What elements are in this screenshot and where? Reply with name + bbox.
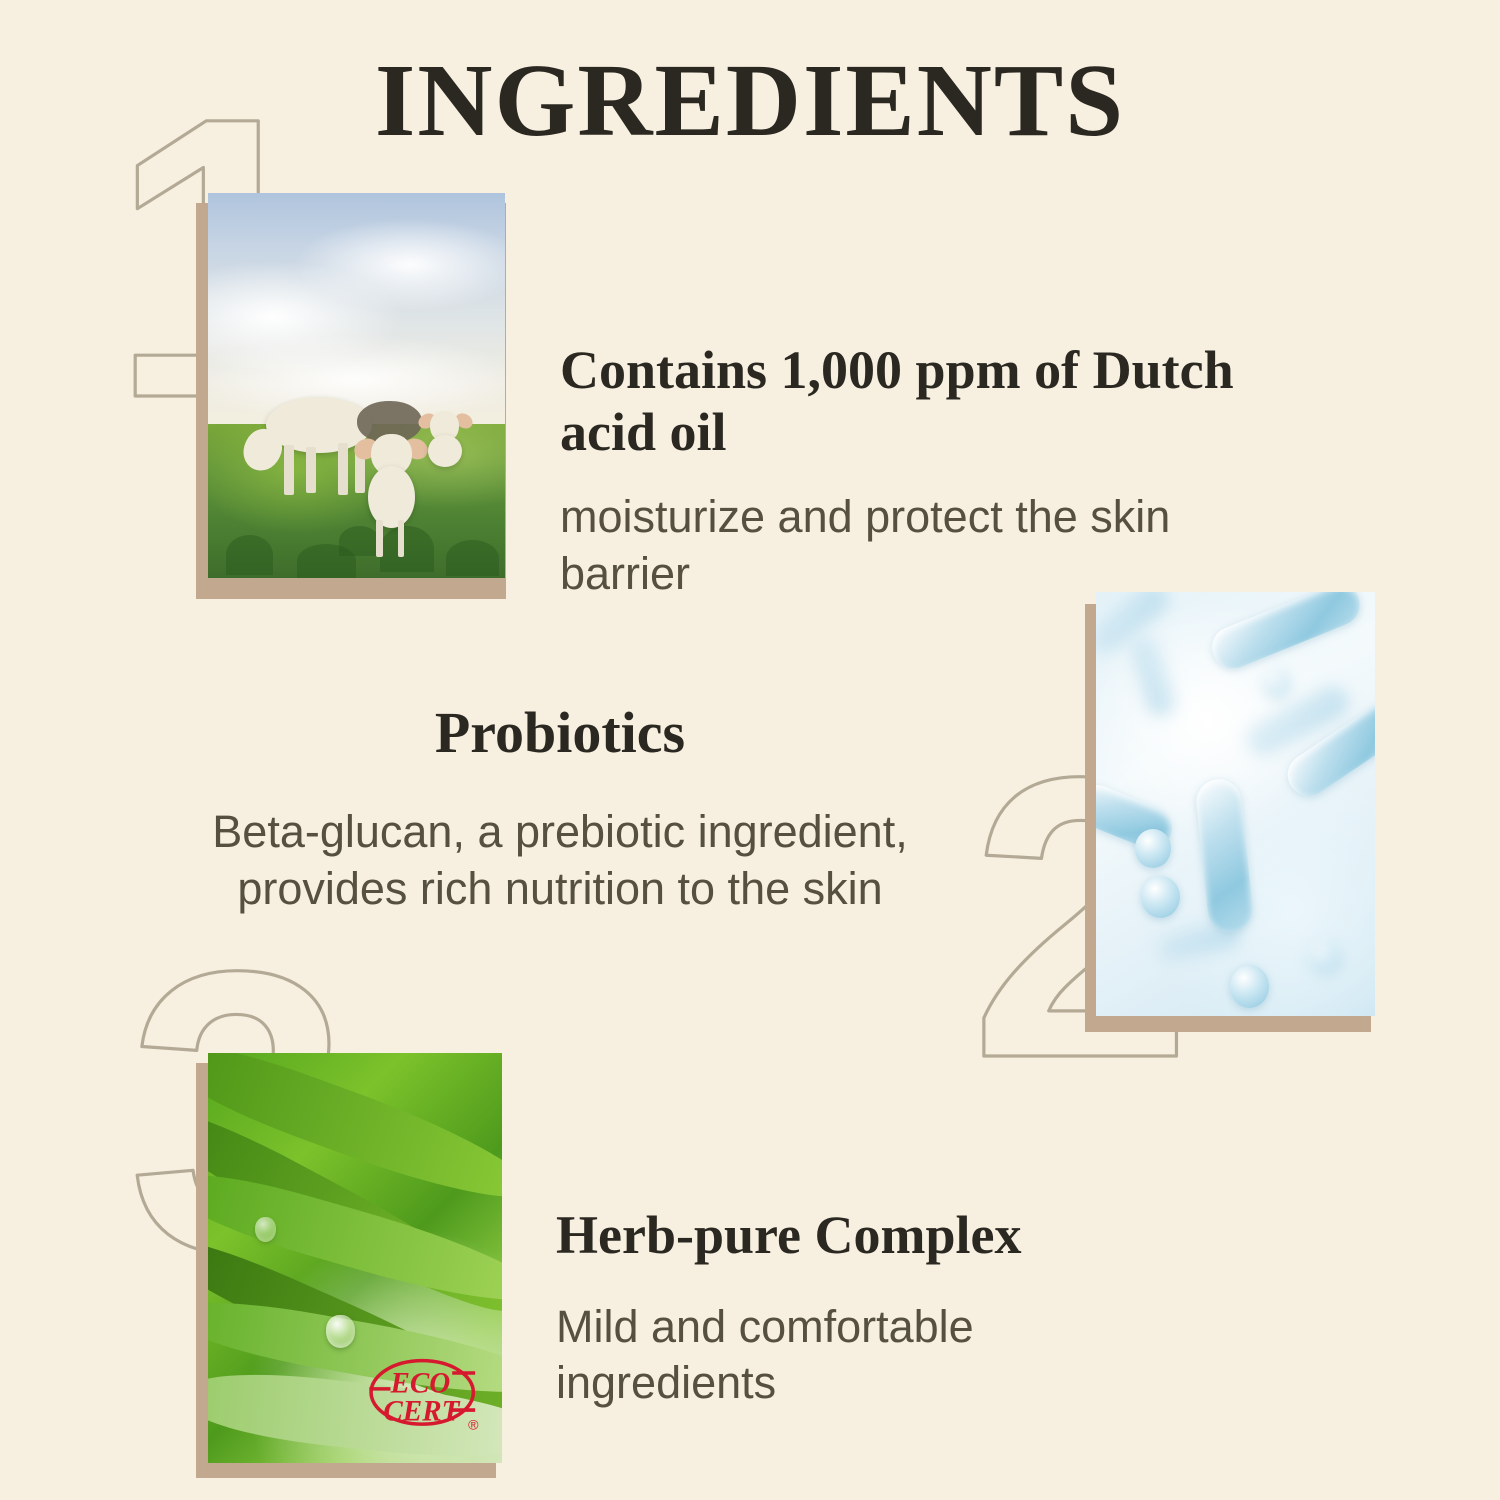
ingredient-2-body: Beta-glucan, a prebiotic ingredient, pro…	[130, 804, 990, 917]
ecocert-registered-mark: ®	[468, 1416, 479, 1432]
ingredient-photo-1-card	[196, 193, 516, 593]
ingredient-3-heading: Herb-pure Complex	[556, 1205, 1116, 1267]
kid-goat-back	[422, 409, 470, 478]
ingredient-photo-2-card	[1085, 592, 1375, 1032]
ingredient-text-1: Contains 1,000 ppm of Dutch acid oil moi…	[560, 340, 1280, 602]
ingredient-1-heading: Contains 1,000 ppm of Dutch acid oil	[560, 340, 1280, 463]
ingredient-text-2: Probiotics Beta-glucan, a prebiotic ingr…	[130, 700, 990, 917]
ingredient-2-heading: Probiotics	[130, 700, 990, 766]
ecocert-icon: ECO CERT ®	[364, 1340, 487, 1447]
goat-pasture-photo	[208, 193, 505, 578]
kid-goat-front	[357, 432, 428, 555]
ecocert-line1: ECO	[389, 1367, 450, 1399]
ingredient-photo-3-card: ECO CERT ®	[196, 1053, 506, 1473]
ingredient-text-3: Herb-pure Complex Mild and comfortable i…	[556, 1205, 1116, 1412]
ingredient-1-body: moisturize and protect the skin barrier	[560, 489, 1280, 602]
green-leaves-photo: ECO CERT ®	[208, 1053, 502, 1463]
ecocert-line2: CERT	[383, 1396, 460, 1428]
water-droplet	[326, 1315, 355, 1348]
ingredients-infographic: INGREDIENTS 1	[0, 0, 1500, 1500]
probiotic-bacteria-photo	[1096, 592, 1375, 1016]
ingredient-3-body: Mild and comfortable ingredients	[556, 1299, 1116, 1412]
